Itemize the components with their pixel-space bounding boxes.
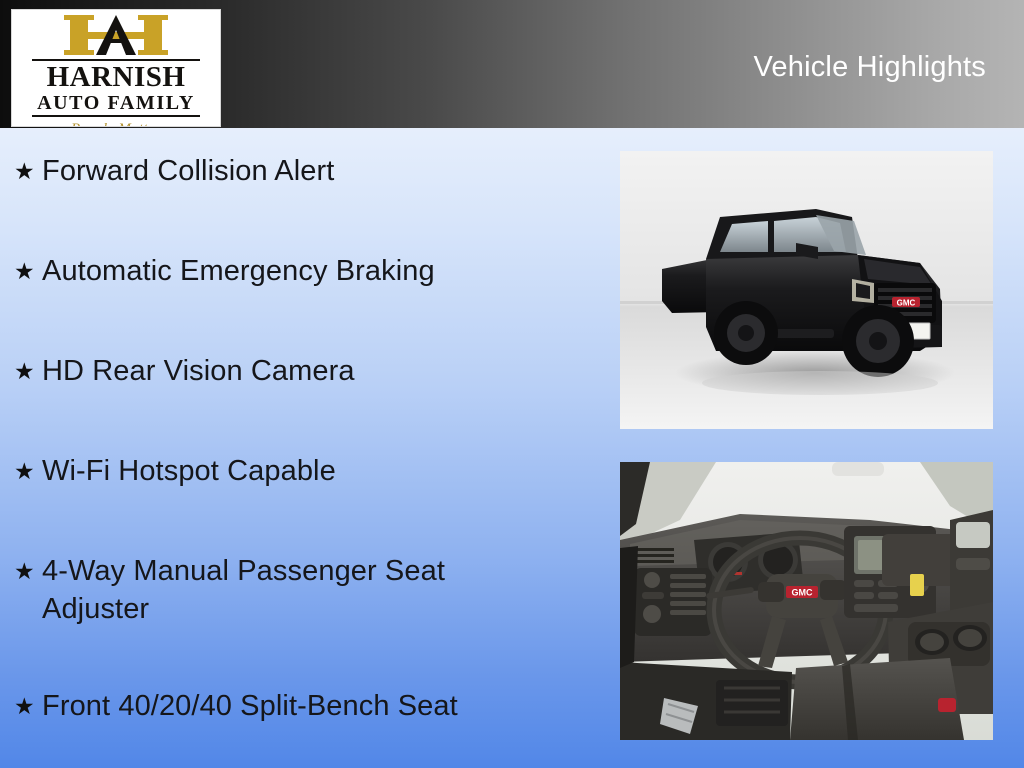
list-item: ★ Forward Collision Alert <box>14 152 574 190</box>
list-item: ★ Automatic Emergency Braking <box>14 252 574 290</box>
page-title: Vehicle Highlights <box>753 50 986 84</box>
star-icon: ★ <box>14 452 42 490</box>
list-item-label: Wi-Fi Hotspot Capable <box>42 452 574 490</box>
star-icon: ★ <box>14 352 42 390</box>
star-icon: ★ <box>14 152 42 190</box>
list-item-label: HD Rear Vision Camera <box>42 352 574 390</box>
list-item: ★ Wi-Fi Hotspot Capable <box>14 452 574 490</box>
logo-name-line2: AUTO FAMILY <box>12 92 220 114</box>
vehicle-interior-photo[interactable]: GMC <box>620 462 993 740</box>
list-item: ★ Front 40/20/40 Split-Bench Seat <box>14 687 574 725</box>
list-item: ★ HD Rear Vision Camera <box>14 352 574 390</box>
star-icon: ★ <box>14 687 42 725</box>
vehicle-exterior-photo[interactable]: GMC <box>620 151 993 429</box>
list-item-label: Forward Collision Alert <box>42 152 574 190</box>
list-item-label: Automatic Emergency Braking <box>42 252 574 290</box>
star-icon: ★ <box>14 252 42 290</box>
slide-canvas: Vehicle Highlights HARNISH AUTO FAMILY P… <box>0 0 1024 768</box>
logo-divider-bottom <box>32 115 200 117</box>
svg-text:GMC: GMC <box>897 299 916 308</box>
logo-tagline: People Matter <box>12 120 220 127</box>
star-icon: ★ <box>14 552 42 590</box>
svg-text:GMC: GMC <box>792 588 813 598</box>
list-item-label: Front 40/20/40 Split-Bench Seat <box>42 687 574 725</box>
list-item: ★ 4-Way Manual Passenger Seat Adjuster <box>14 552 484 628</box>
logo-wordmark: HARNISH AUTO FAMILY People Matter <box>12 59 220 127</box>
dealer-logo[interactable]: HARNISH AUTO FAMILY People Matter <box>11 9 221 127</box>
harnish-monogram-icon <box>64 15 168 59</box>
list-item-label: 4-Way Manual Passenger Seat Adjuster <box>42 552 484 628</box>
logo-name-line1: HARNISH <box>12 63 220 92</box>
